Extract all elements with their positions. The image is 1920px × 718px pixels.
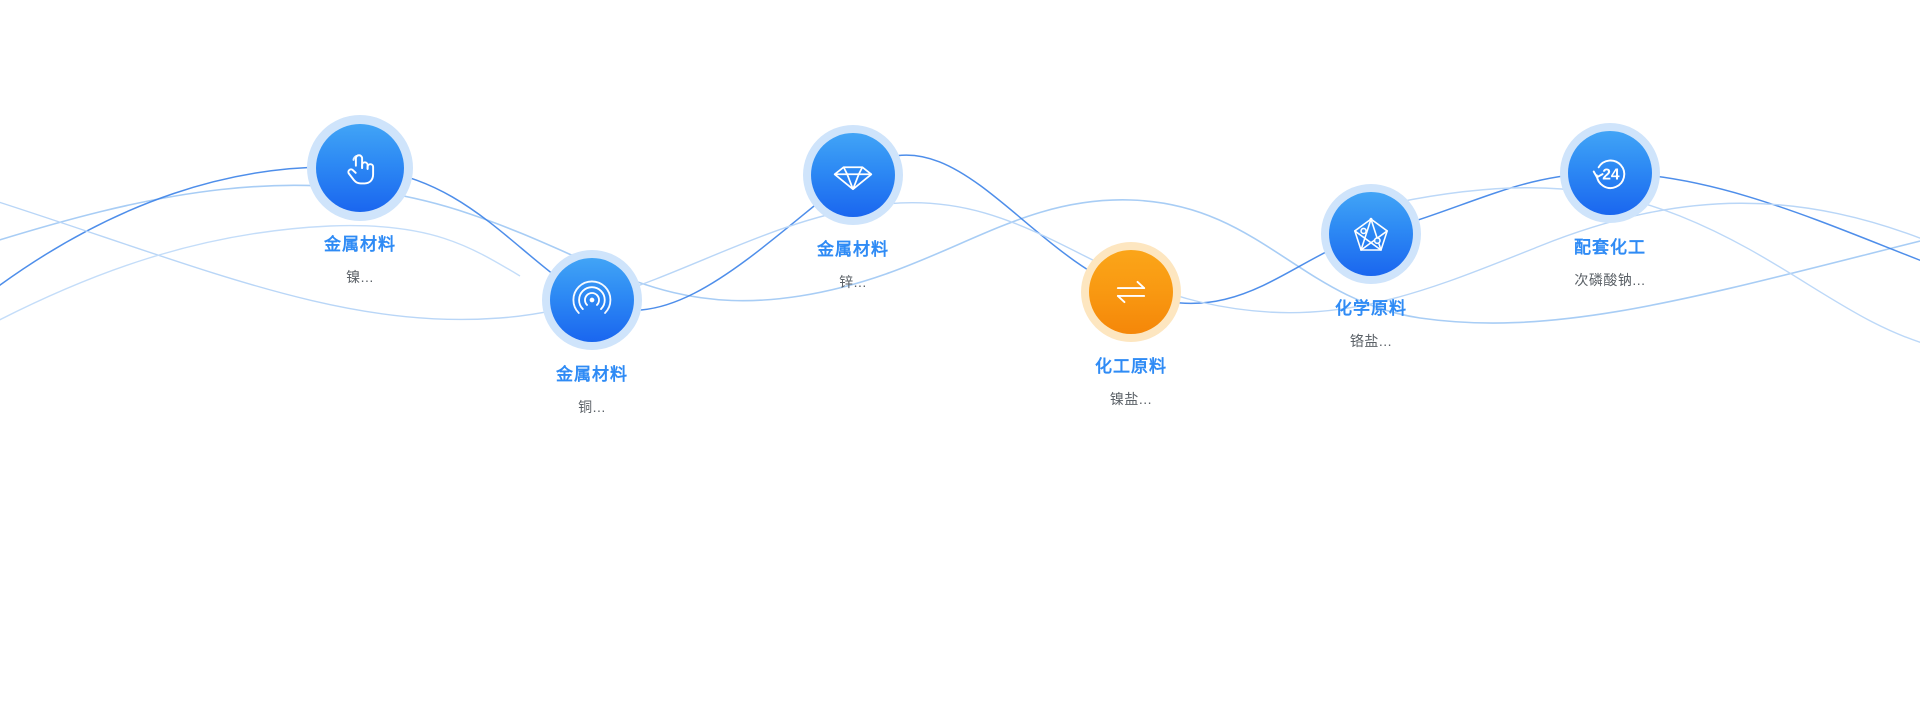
pentagon-molecule-icon bbox=[1350, 213, 1392, 255]
node-labels: 化工原料 镍盐... bbox=[1095, 358, 1167, 406]
node-subtitle: 镍... bbox=[324, 270, 396, 284]
twenty-four-hour-service-icon: 24 bbox=[1588, 151, 1632, 195]
node-disc bbox=[550, 258, 634, 342]
node-subtitle: 镍盐... bbox=[1095, 392, 1167, 406]
node-subtitle: 铜... bbox=[556, 400, 628, 414]
wave-curve-light-3 bbox=[1380, 188, 1920, 348]
node-title: 化工原料 bbox=[1095, 358, 1167, 375]
node-disc bbox=[316, 124, 404, 212]
node-labels: 配套化工 次磷酸钠... bbox=[1574, 239, 1646, 287]
click-hand-icon bbox=[338, 146, 382, 190]
node-title: 化学原料 bbox=[1335, 300, 1407, 317]
wave-curve-light-4 bbox=[0, 226, 520, 330]
node-disc bbox=[811, 133, 895, 217]
svg-text:24: 24 bbox=[1602, 166, 1620, 183]
node-title: 金属材料 bbox=[324, 236, 396, 253]
node-labels: 金属材料 锌... bbox=[817, 241, 889, 289]
supply-chain-flow-diagram: 金属材料 镍... 金属材料 铜... bbox=[0, 0, 1920, 718]
background-wave-curves bbox=[0, 0, 1920, 718]
node-labels: 金属材料 镍... bbox=[324, 236, 396, 284]
node-disc bbox=[1329, 192, 1413, 276]
node-subtitle: 铬盐... bbox=[1335, 334, 1407, 348]
node-labels: 化学原料 铬盐... bbox=[1335, 300, 1407, 348]
node-subtitle: 锌... bbox=[817, 275, 889, 289]
node-title: 金属材料 bbox=[556, 366, 628, 383]
exchange-arrows-icon bbox=[1110, 271, 1152, 313]
node-labels: 金属材料 铜... bbox=[556, 366, 628, 414]
radar-signal-icon bbox=[570, 278, 614, 322]
node-subtitle: 次磷酸钠... bbox=[1574, 273, 1646, 287]
node-disc bbox=[1089, 250, 1173, 334]
node-title: 配套化工 bbox=[1574, 239, 1646, 256]
node-disc: 24 bbox=[1568, 131, 1652, 215]
diamond-gem-icon bbox=[831, 153, 875, 197]
node-title: 金属材料 bbox=[817, 241, 889, 258]
